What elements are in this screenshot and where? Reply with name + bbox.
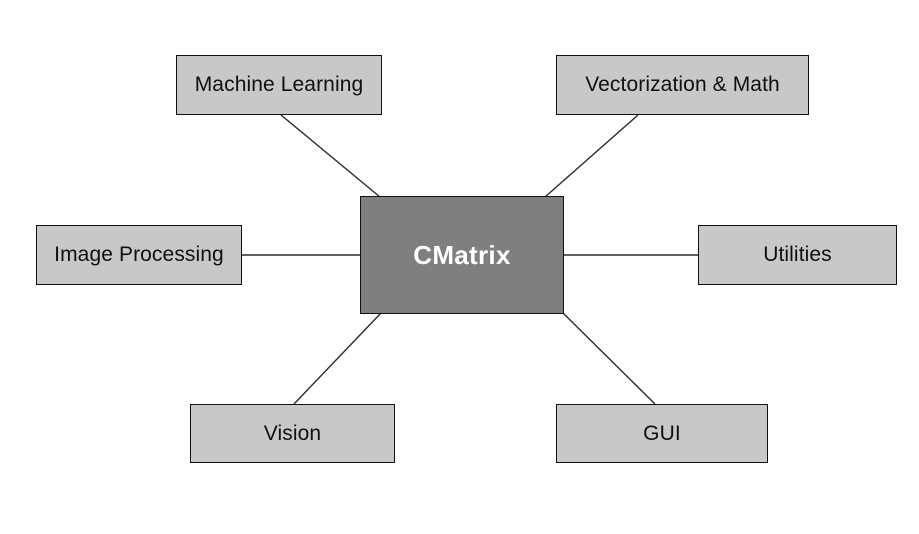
connector-machine-learning [281, 115, 380, 197]
node-gui-label: GUI [637, 422, 687, 445]
diagram-canvas-root: Machine Learning Vectorization & Math Im… [0, 0, 919, 534]
node-gui[interactable]: GUI [556, 404, 768, 463]
node-utilities-label: Utilities [757, 243, 838, 266]
node-vision-label: Vision [258, 422, 327, 445]
node-image-processing-label: Image Processing [48, 243, 230, 266]
node-vectorization-math-label: Vectorization & Math [579, 73, 786, 96]
connector-vectorization-math [545, 115, 638, 197]
connector-gui [563, 313, 655, 404]
node-cmatrix-label: CMatrix [407, 241, 516, 270]
node-machine-learning[interactable]: Machine Learning [176, 55, 382, 115]
node-utilities[interactable]: Utilities [698, 225, 897, 285]
node-vision[interactable]: Vision [190, 404, 395, 463]
node-machine-learning-label: Machine Learning [189, 73, 370, 96]
connector-vision [294, 313, 381, 404]
node-cmatrix-center[interactable]: CMatrix [360, 196, 564, 314]
node-vectorization-math[interactable]: Vectorization & Math [556, 55, 809, 115]
node-image-processing[interactable]: Image Processing [36, 225, 242, 285]
